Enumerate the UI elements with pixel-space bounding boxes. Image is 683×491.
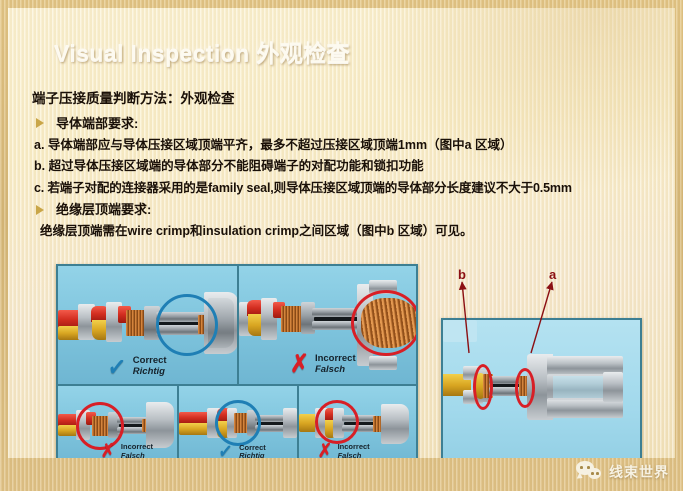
page-title: Visual Inspection 外观检查 xyxy=(54,34,350,68)
photo-panel-bottom-left: ✗ Incorrect Falsch xyxy=(58,386,177,458)
photo-panel-top-left: ✓ Correct Richtig xyxy=(58,266,237,384)
verdict-correct: ✓ Correct Richtig xyxy=(106,354,167,380)
section-heading-insulation-label: 绝缘层顶端要求: xyxy=(56,203,151,216)
watermark-text: 线束世界 xyxy=(609,462,669,482)
lead-statement: 端子压接质量判断方法：外观检查 xyxy=(28,92,668,106)
photo-panel-bottom-right: ✗ Incorrect Falsch xyxy=(297,386,416,458)
verdict-incorrect: ✗ Incorrect Falsch xyxy=(289,352,356,377)
verdict-label-de: Falsch xyxy=(121,452,153,459)
verdict-incorrect: ✗ Incorrect Falsch xyxy=(317,442,370,458)
arrow-bullet-icon xyxy=(36,118,44,128)
verdict-label-de: Falsch xyxy=(315,365,356,376)
list-item-a: a. 导体端部应与导体压接区域顶端平齐，最多不超过压接区域顶端1mm（图中a 区… xyxy=(28,139,668,152)
callout-label-a: a xyxy=(549,267,556,282)
annotation-ellipse-b xyxy=(473,364,493,410)
section-heading-conductor: 导体端部要求: xyxy=(28,117,668,130)
list-item-c: c. 若端子对配的连接器采用的是family seal,则导体压接区域顶端的导体… xyxy=(28,182,668,195)
arrow-bullet-icon xyxy=(36,205,44,215)
highlight-circle-red xyxy=(315,400,359,444)
verdict-label-de: Richtig xyxy=(239,452,266,458)
highlight-circle-blue xyxy=(156,294,218,356)
photo-panel-bottom-middle: ✓ Correct Richtig xyxy=(177,386,296,458)
check-icon: ✓ xyxy=(107,353,128,382)
check-icon: ✓ xyxy=(218,441,234,458)
list-item-b: b. 超过导体压接区域端的导体部分不能阻碍端子的对配功能和锁扣功能 xyxy=(28,160,668,173)
watermark: 线束世界 xyxy=(576,461,669,483)
section-heading-insulation: 绝缘层顶端要求: xyxy=(28,203,668,216)
body-text-block: 端子压接质量判断方法：外观检查 导体端部要求: a. 导体端部应与导体压接区域顶… xyxy=(28,92,668,238)
cross-icon: ✗ xyxy=(317,442,331,458)
highlight-circle-red xyxy=(351,290,416,356)
slide-root: Visual Inspection 外观检查 端子压接质量判断方法：外观检查 导… xyxy=(0,0,683,491)
photo-grid-row-top: ✓ Correct Richtig xyxy=(58,266,416,384)
inspection-photo-grid: ✓ Correct Richtig xyxy=(56,264,418,458)
verdict-label-de: Richtig xyxy=(133,367,167,378)
photo-grid-row-bottom: ✗ Incorrect Falsch xyxy=(58,384,416,458)
verdict-label-de: Falsch xyxy=(338,452,370,459)
highlight-circle-blue xyxy=(215,400,261,446)
insulation-note: 绝缘层顶端需在wire crimp和insulation crimp之间区域（图… xyxy=(28,225,668,238)
cross-icon: ✗ xyxy=(101,442,115,458)
photo-panel-top-right: ✗ Incorrect Falsch xyxy=(237,266,416,384)
annotation-ellipse-a xyxy=(515,368,535,408)
verdict-correct: ✓ Correct Richtig xyxy=(217,442,265,458)
cross-icon: ✗ xyxy=(290,352,309,377)
wechat-icon xyxy=(576,461,602,483)
slide-content-panel: Visual Inspection 外观检查 端子压接质量判断方法：外观检查 导… xyxy=(8,8,675,458)
callout-label-b: b xyxy=(458,267,466,282)
verdict-incorrect: ✗ Incorrect Falsch xyxy=(100,442,153,458)
verdict-label-en: Incorrect xyxy=(315,354,356,365)
terminal-detail-photo xyxy=(441,318,642,458)
section-heading-conductor-label: 导体端部要求: xyxy=(56,117,138,130)
